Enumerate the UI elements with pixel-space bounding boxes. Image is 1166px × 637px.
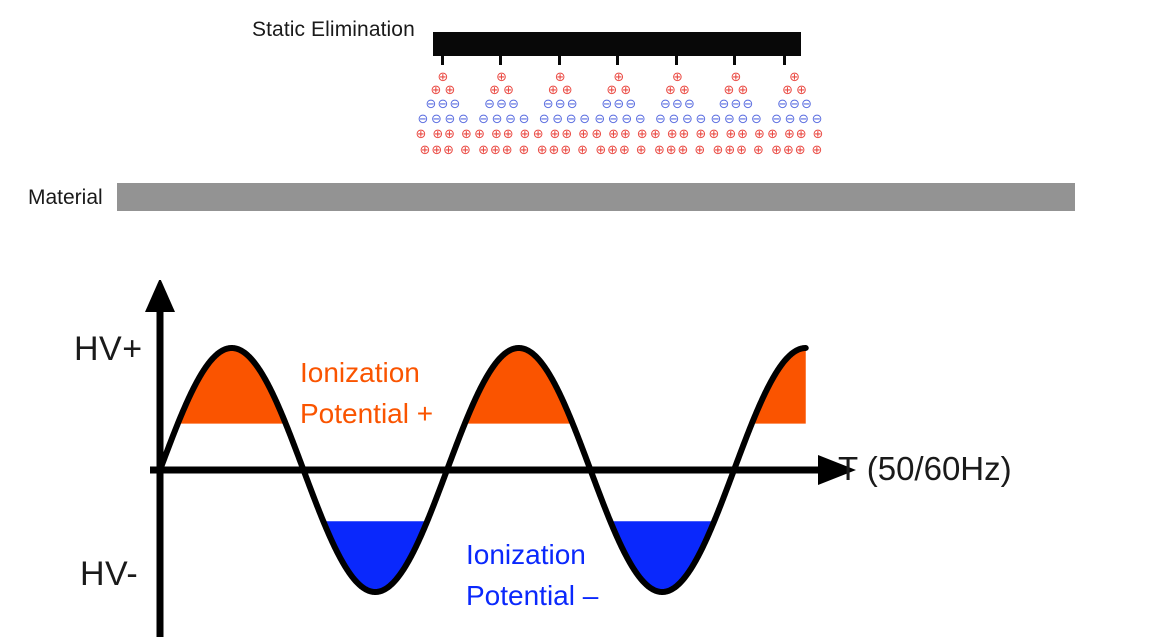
negative-charge-icon: ⊖ [633, 113, 647, 127]
positive-charge-icon: ⊕ [605, 84, 619, 98]
positive-charge-icon: ⊕ [766, 128, 780, 142]
positive-charge-icon: ⊕ [810, 144, 824, 158]
positive-charge-icon: ⊕ [577, 128, 591, 142]
material-web-bar [117, 183, 1075, 211]
negative-charge-icon: ⊖ [680, 113, 694, 127]
ionization-negative-label-line2: Potential – [466, 575, 598, 616]
negative-charge-icon: ⊖ [430, 113, 444, 127]
negative-charge-icon: ⊖ [682, 98, 696, 112]
negative-charge-icon: ⊖ [537, 113, 551, 127]
positive-charge-icon: ⊕ [500, 144, 514, 158]
positive-charge-icon: ⊕ [677, 84, 691, 98]
negative-charge-icon: ⊖ [578, 113, 592, 127]
negative-charge-icon: ⊖ [750, 113, 764, 127]
positive-charge-icon: ⊕ [794, 128, 808, 142]
ionization-negative-label: Ionization Potential – [466, 534, 598, 616]
negative-charge-icon: ⊖ [620, 113, 634, 127]
negative-charge-icon: ⊖ [507, 98, 521, 112]
negative-charge-icon: ⊖ [448, 98, 462, 112]
charge-cloud: ⊕⊕⊕⊕⊕⊕⊕⊕⊕⊕⊕⊕⊕⊕⊕⊕⊕⊕⊕⊕⊕⊖⊖⊖⊖⊖⊖⊖⊖⊖⊖⊖⊖⊖⊖⊖⊖⊖⊖⊖… [0, 0, 1166, 175]
positive-charge-icon: ⊕ [488, 84, 502, 98]
negative-charge-icon: ⊖ [606, 113, 620, 127]
positive-charge-icon: ⊕ [736, 84, 750, 98]
negative-charge-icon: ⊖ [457, 113, 471, 127]
positive-charge-icon: ⊕ [502, 84, 516, 98]
hv-plus-label: HV+ [74, 330, 143, 369]
negative-charge-icon: ⊖ [653, 113, 667, 127]
negative-charge-icon: ⊖ [741, 98, 755, 112]
positive-charge-icon: ⊕ [546, 84, 560, 98]
ionization-positive-label-line2: Potential + [300, 393, 433, 434]
material-label: Material [28, 186, 103, 210]
positive-charge-icon: ⊕ [634, 144, 648, 158]
negative-charge-icon: ⊖ [810, 113, 824, 127]
positive-charge-icon: ⊕ [676, 144, 690, 158]
positive-charge-icon: ⊕ [722, 84, 736, 98]
positive-charge-icon: ⊕ [473, 128, 487, 142]
positive-charge-icon: ⊕ [752, 128, 766, 142]
hv-minus-label: HV- [80, 555, 138, 594]
negative-charge-icon: ⊖ [490, 113, 504, 127]
positive-charge-icon: ⊕ [618, 128, 632, 142]
positive-charge-icon: ⊕ [707, 128, 721, 142]
positive-charge-icon: ⊕ [458, 144, 472, 158]
negative-charge-icon: ⊖ [551, 113, 565, 127]
negative-charge-icon: ⊖ [593, 113, 607, 127]
positive-charge-icon: ⊕ [811, 128, 825, 142]
positive-charge-icon: ⊕ [459, 128, 473, 142]
ionization-positive-label-line1: Ionization [300, 352, 433, 393]
positive-charge-icon: ⊕ [617, 144, 631, 158]
positive-charge-icon: ⊕ [559, 144, 573, 158]
positive-charge-icon: ⊕ [429, 84, 443, 98]
diagram-canvas: Static Elimination ⊕⊕⊕⊕⊕⊕⊕⊕⊕⊕⊕⊕⊕⊕⊕⊕⊕⊕⊕⊕⊕… [0, 0, 1166, 637]
ionization-negative-label-line1: Ionization [466, 534, 598, 575]
negative-charge-icon: ⊖ [477, 113, 491, 127]
negative-charge-icon: ⊖ [736, 113, 750, 127]
positive-charge-icon: ⊕ [648, 128, 662, 142]
negative-charge-icon: ⊖ [517, 113, 531, 127]
positive-charge-icon: ⊕ [501, 128, 515, 142]
hv-waveform-chart: HV+ HV- T (50/60Hz) Ionization Potential… [0, 280, 1166, 637]
negative-charge-icon: ⊖ [797, 113, 811, 127]
negative-charge-icon: ⊖ [694, 113, 708, 127]
positive-charge-icon: ⊕ [414, 128, 428, 142]
positive-charge-icon: ⊕ [442, 144, 456, 158]
positive-charge-icon: ⊕ [443, 84, 457, 98]
voltage-axis-arrowhead [145, 280, 175, 312]
negative-charge-icon: ⊖ [416, 113, 430, 127]
time-axis-label: T (50/60Hz) [838, 450, 1012, 488]
negative-charge-icon: ⊖ [723, 113, 737, 127]
ionization-positive-label: Ionization Potential + [300, 352, 433, 434]
negative-charge-icon: ⊖ [564, 113, 578, 127]
negative-charge-icon: ⊖ [783, 113, 797, 127]
negative-charge-icon: ⊖ [770, 113, 784, 127]
positive-charge-icon: ⊕ [736, 128, 750, 142]
positive-charge-icon: ⊕ [694, 128, 708, 142]
positive-charge-icon: ⊕ [518, 128, 532, 142]
positive-charge-icon: ⊕ [677, 128, 691, 142]
positive-charge-icon: ⊕ [793, 144, 807, 158]
negative-charge-icon: ⊖ [667, 113, 681, 127]
positive-charge-icon: ⊕ [590, 128, 604, 142]
negative-charge-icon: ⊖ [504, 113, 518, 127]
negative-charge-icon: ⊖ [443, 113, 457, 127]
negative-charge-icon: ⊖ [709, 113, 723, 127]
positive-charge-icon: ⊕ [560, 84, 574, 98]
positive-charge-icon: ⊕ [576, 144, 590, 158]
positive-charge-icon: ⊕ [663, 84, 677, 98]
positive-charge-icon: ⊕ [531, 128, 545, 142]
positive-charge-icon: ⊕ [443, 128, 457, 142]
positive-charge-icon: ⊕ [693, 144, 707, 158]
positive-charge-icon: ⊕ [635, 128, 649, 142]
positive-charge-icon: ⊕ [619, 84, 633, 98]
negative-charge-icon: ⊖ [565, 98, 579, 112]
positive-charge-icon: ⊕ [795, 84, 809, 98]
negative-charge-icon: ⊖ [800, 98, 814, 112]
positive-charge-icon: ⊕ [735, 144, 749, 158]
positive-charge-icon: ⊕ [517, 144, 531, 158]
positive-charge-icon: ⊕ [781, 84, 795, 98]
negative-charge-icon: ⊖ [624, 98, 638, 112]
positive-charge-icon: ⊕ [560, 128, 574, 142]
positive-charge-icon: ⊕ [751, 144, 765, 158]
